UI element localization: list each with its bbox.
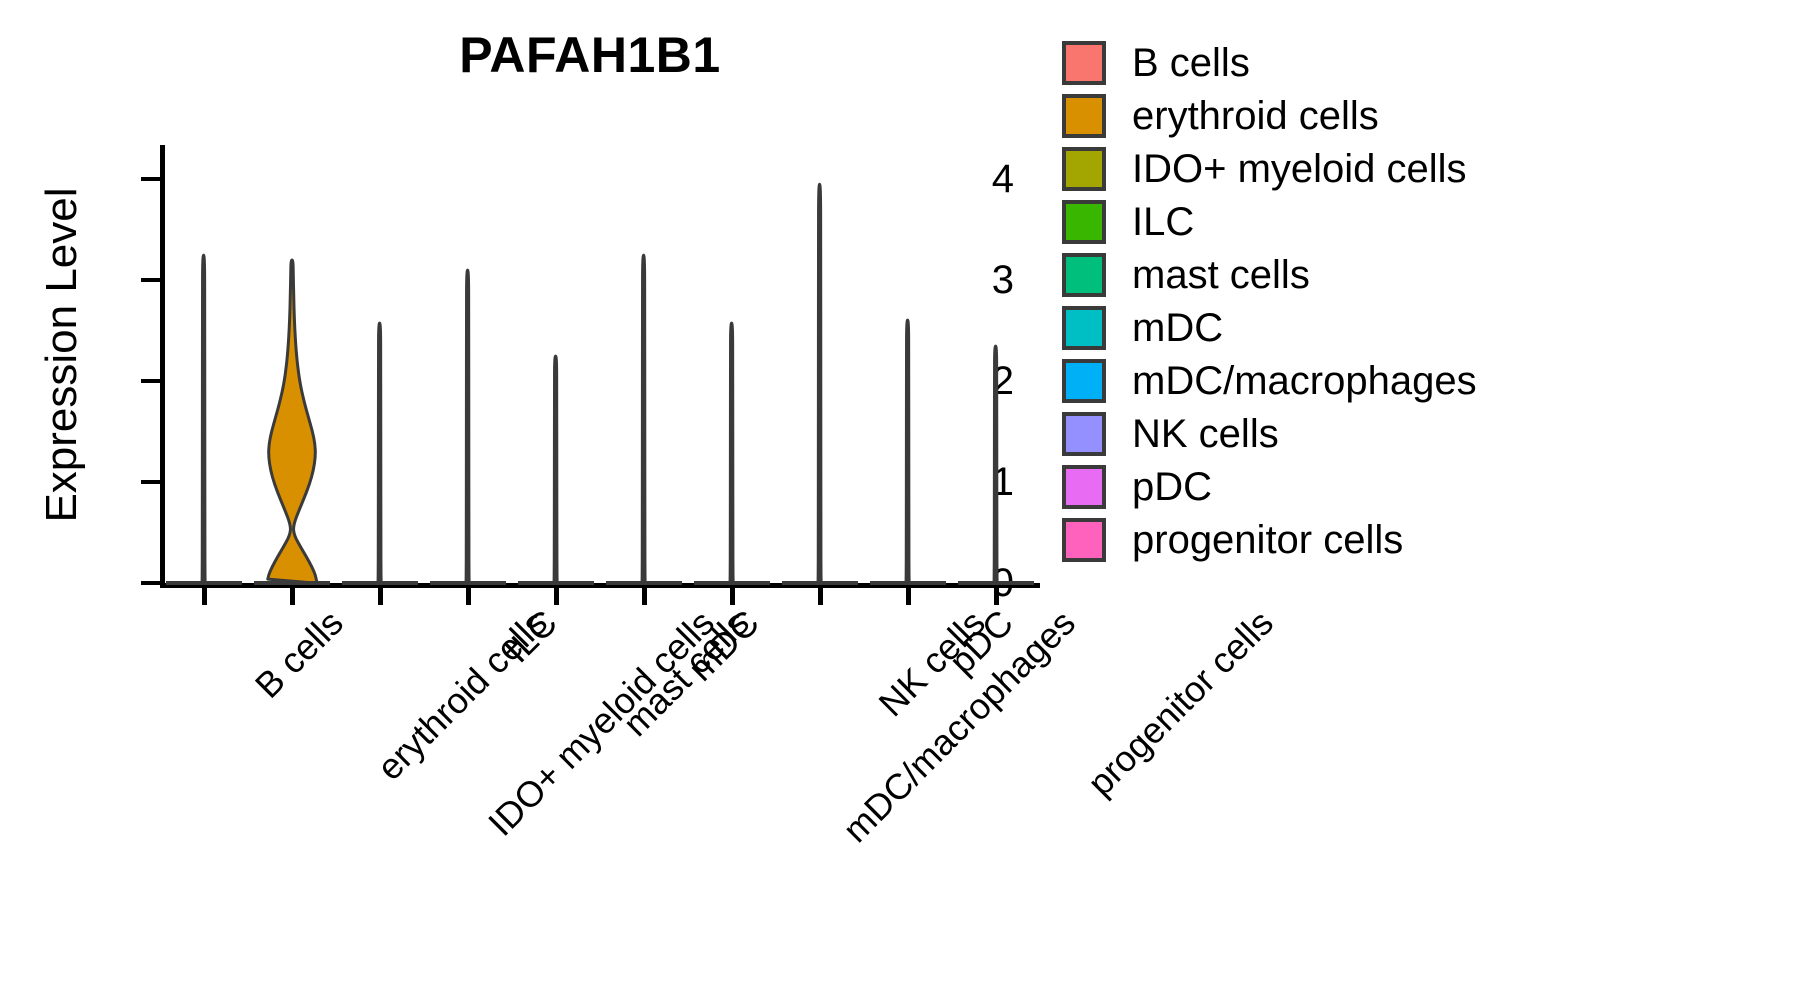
legend-label: NK cells (1132, 414, 1279, 454)
legend-label: B cells (1132, 43, 1250, 83)
legend-label: mDC (1132, 308, 1223, 348)
legend-swatch-icon (1062, 94, 1106, 138)
violin-ilc (462, 267, 473, 586)
y-tick-0 (141, 581, 160, 585)
violin-plot-figure: PAFAH1B1 Expression Level 01234 B cellse… (0, 0, 1795, 1002)
legend-label: pDC (1132, 467, 1212, 507)
violin-zero-baseline-8 (870, 581, 946, 585)
violin-nk-cells (814, 181, 825, 586)
violin-erythroid-cells (263, 257, 321, 586)
legend-item-nk-cells[interactable]: NK cells (1062, 407, 1477, 460)
legend-label: progenitor cells (1132, 520, 1403, 560)
x-category-label-progenitor-cells: progenitor cells (1082, 604, 1280, 802)
violin-zero-baseline-6 (694, 581, 770, 585)
legend-swatch-icon (1062, 306, 1106, 350)
page-title: PAFAH1B1 (150, 30, 1030, 80)
legend-swatch-icon (1062, 518, 1106, 562)
x-tick-9 (994, 588, 999, 605)
y-tick-label-3: 3 (992, 260, 1014, 300)
violin-progenitor-cells (990, 343, 1001, 586)
violin-pdc (902, 317, 913, 586)
legend-swatch-icon (1062, 200, 1106, 244)
violin-mdc-macrophages (726, 320, 737, 586)
violin-zero-baseline-0 (166, 581, 242, 585)
violin-zero-baseline-5 (606, 581, 682, 585)
x-tick-1 (290, 588, 295, 605)
violin-zero-baseline-3 (430, 581, 506, 585)
violin-mast-cells (550, 353, 561, 586)
legend-swatch-icon (1062, 253, 1106, 297)
x-tick-5 (642, 588, 647, 605)
x-tick-8 (906, 588, 911, 605)
legend-item-ilc[interactable]: ILC (1062, 195, 1477, 248)
legend-item-mast-cells[interactable]: mast cells (1062, 248, 1477, 301)
legend-label: ILC (1132, 202, 1194, 242)
legend-label: mDC/macrophages (1132, 361, 1477, 401)
violin-mdc (638, 252, 649, 586)
legend-label: erythroid cells (1132, 96, 1379, 136)
legend-label: IDO+ myeloid cells (1132, 149, 1467, 189)
violin-zero-baseline-7 (782, 581, 858, 585)
y-axis-line (160, 145, 165, 587)
legend-swatch-icon (1062, 147, 1106, 191)
x-tick-0 (202, 588, 207, 605)
y-tick-label-4: 4 (992, 159, 1014, 199)
legend-swatch-icon (1062, 465, 1106, 509)
x-tick-3 (466, 588, 471, 605)
legend-label: mast cells (1132, 255, 1310, 295)
x-category-label-b-cells: B cells (249, 604, 349, 704)
legend-item-erythroid-cells[interactable]: erythroid cells (1062, 89, 1477, 142)
violin-zero-baseline-4 (518, 581, 594, 585)
legend-swatch-icon (1062, 41, 1106, 85)
violin-ido-myeloid-cells (374, 320, 385, 586)
legend-item-progenitor-cells[interactable]: progenitor cells (1062, 513, 1477, 566)
legend-swatch-icon (1062, 412, 1106, 456)
y-tick-1 (141, 480, 160, 484)
legend: B cellserythroid cellsIDO+ myeloid cells… (1062, 36, 1477, 566)
violin-zero-baseline-1 (254, 581, 330, 585)
legend-item-b-cells[interactable]: B cells (1062, 36, 1477, 89)
y-axis-title: Expression Level (37, 145, 87, 565)
legend-item-pdc[interactable]: pDC (1062, 460, 1477, 513)
x-tick-6 (730, 588, 735, 605)
y-tick-3 (141, 278, 160, 282)
legend-item-mdc[interactable]: mDC (1062, 301, 1477, 354)
y-tick-4 (141, 177, 160, 181)
violin-zero-baseline-9 (958, 581, 1034, 585)
violin-b-cells (198, 252, 209, 586)
legend-item-mdc-macrophages[interactable]: mDC/macrophages (1062, 354, 1477, 407)
x-tick-7 (818, 588, 823, 605)
legend-swatch-icon (1062, 359, 1106, 403)
x-tick-2 (378, 588, 383, 605)
y-tick-2 (141, 379, 160, 383)
legend-item-ido-myeloid-cells[interactable]: IDO+ myeloid cells (1062, 142, 1477, 195)
plot-panel: 01234 (160, 120, 1040, 585)
violin-zero-baseline-2 (342, 581, 418, 585)
x-tick-4 (554, 588, 559, 605)
